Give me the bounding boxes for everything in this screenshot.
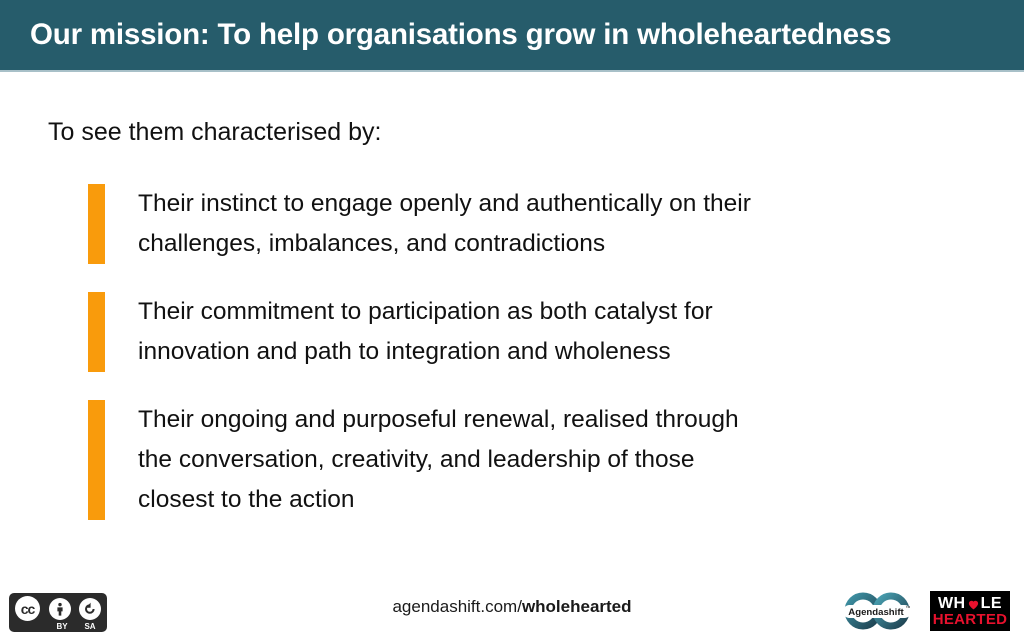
list-item-line: Their commitment to participation as bot… [138, 292, 968, 332]
list-item-line: closest to the action [138, 480, 968, 520]
cc-label-row: BY SA [12, 621, 104, 632]
agendashift-infinity-logo[interactable]: Agendashift ™ [841, 590, 913, 632]
cc-label-sa: SA [79, 621, 101, 632]
page-title: Our mission: To help organisations grow … [30, 18, 891, 52]
intro-text: To see them characterised by: [48, 118, 382, 147]
title-divider [0, 70, 1024, 72]
title-band: Our mission: To help organisations grow … [0, 0, 1024, 70]
wholehearted-line-2: HEARTED [930, 612, 1010, 628]
bullet-bar-icon [88, 292, 105, 372]
footer-url-domain: agendashift.com/ [392, 597, 521, 616]
footer-url-path: wholehearted [522, 597, 632, 616]
agendashift-trademark: ™ [906, 606, 911, 612]
creative-commons-by-sa-icon[interactable]: cc BY SA [9, 593, 107, 632]
list-item-text: Their instinct to engage openly and auth… [105, 184, 968, 264]
list-item: Their instinct to engage openly and auth… [88, 184, 968, 264]
cc-label-by: BY [51, 621, 73, 632]
list-item-text: Their ongoing and purposeful renewal, re… [105, 400, 968, 520]
list-item-line: Their ongoing and purposeful renewal, re… [138, 400, 968, 440]
cc-glyph-row: cc [12, 596, 104, 621]
cc-sharealike-icon [79, 598, 101, 620]
list-item-text: Their commitment to participation as bot… [105, 292, 968, 372]
list-item-line: challenges, imbalances, and contradictio… [138, 224, 968, 264]
agendashift-wordmark: Agendashift [848, 607, 904, 618]
bullet-bar-icon [88, 400, 105, 520]
heart-icon [967, 598, 980, 611]
wholehearted-text-before: WH [938, 595, 966, 612]
wholehearted-logo[interactable]: WH LE HEARTED [930, 591, 1010, 631]
list-item: Their commitment to participation as bot… [88, 292, 968, 372]
cc-logo-icon: cc [15, 596, 40, 621]
list-item-line: innovation and path to integration and w… [138, 332, 968, 372]
bullet-bar-icon [88, 184, 105, 264]
cc-attribution-icon [49, 598, 71, 620]
list-item-line: Their instinct to engage openly and auth… [138, 184, 968, 224]
list-item-line: the conversation, creativity, and leader… [138, 440, 968, 480]
bullet-list: Their instinct to engage openly and auth… [88, 184, 968, 520]
wholehearted-line-1: WH LE [930, 595, 1010, 612]
list-item: Their ongoing and purposeful renewal, re… [88, 400, 968, 520]
wholehearted-text-after: LE [981, 595, 1002, 612]
slide: Our mission: To help organisations grow … [0, 0, 1024, 640]
